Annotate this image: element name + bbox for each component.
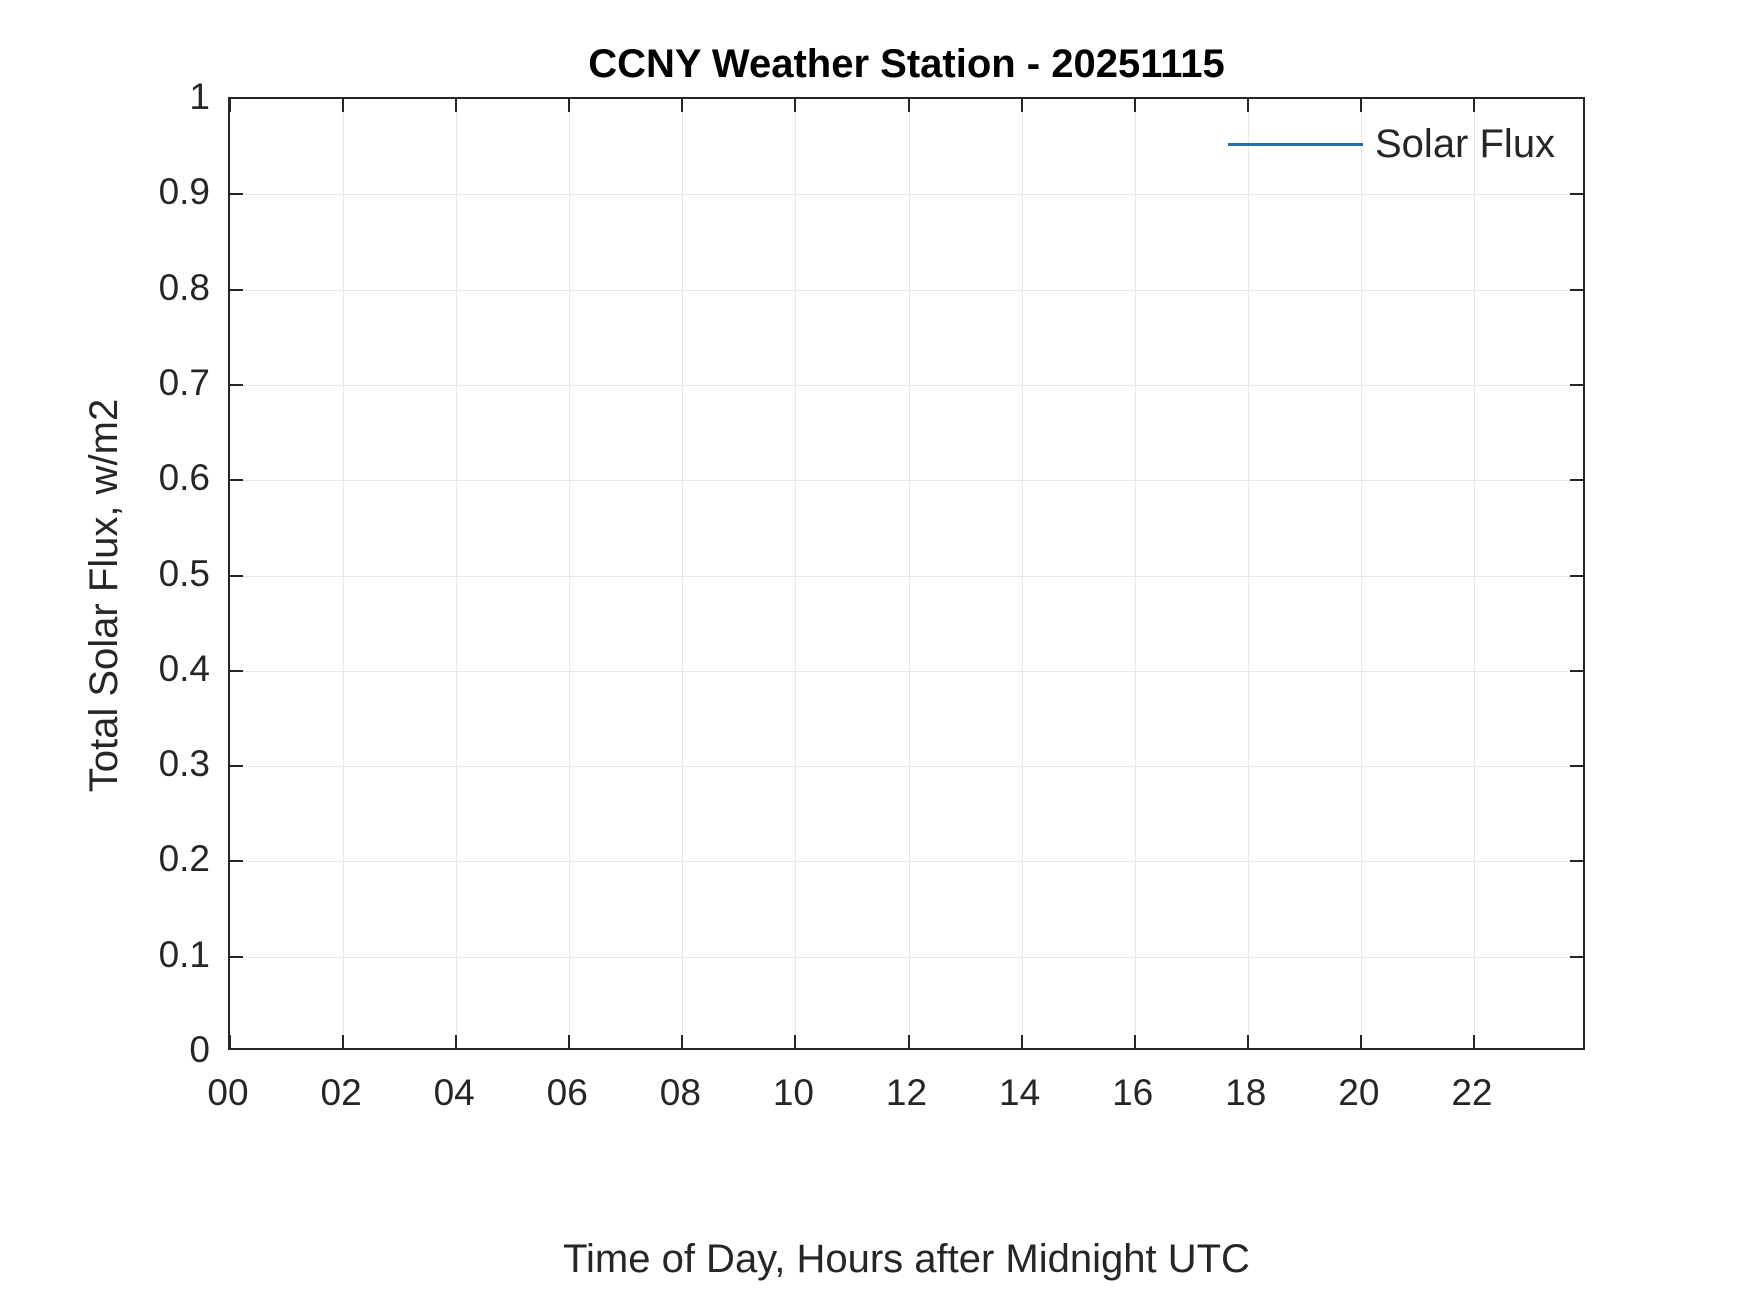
y-axis-tick-label: 0.5 [159, 553, 210, 595]
y-axis-tick-label: 0.8 [159, 267, 210, 309]
series-layer [230, 99, 1583, 1048]
legend[interactable]: Solar Flux [1228, 124, 1555, 164]
y-axis-tick-label: 0.7 [159, 362, 210, 404]
chart-title: CCNY Weather Station - 20251115 [228, 42, 1585, 87]
x-axis-tick-label: 00 [207, 1072, 248, 1114]
y-axis-tick-label: 0.2 [159, 838, 210, 880]
x-axis-tick-label: 18 [1225, 1072, 1266, 1114]
x-axis-tick-label: 22 [1451, 1072, 1492, 1114]
x-axis-tick-label: 12 [886, 1072, 927, 1114]
y-axis-tick-label: 0.6 [159, 457, 210, 499]
x-axis-tick-label: 10 [773, 1072, 814, 1114]
x-axis-tick-label: 14 [999, 1072, 1040, 1114]
x-axis-tick-label: 08 [660, 1072, 701, 1114]
y-axis-tick-label: 0.1 [159, 934, 210, 976]
y-axis-tick-label: 1 [189, 76, 210, 118]
x-axis-tick-label: 20 [1338, 1072, 1379, 1114]
plot-area[interactable] [228, 97, 1585, 1050]
legend-line-solar-flux [1228, 143, 1363, 146]
figure-canvas: CCNY Weather Station - 20251115 00.10.20… [0, 0, 1750, 1313]
x-axis-tick-label: 02 [321, 1072, 362, 1114]
x-axis-tick-label: 04 [434, 1072, 475, 1114]
x-axis-tick-label: 16 [1112, 1072, 1153, 1114]
y-axis-tick-label: 0.9 [159, 171, 210, 213]
y-axis-tick-label: 0.4 [159, 648, 210, 690]
y-axis-tick-label: 0 [189, 1029, 210, 1071]
legend-label-solar-flux: Solar Flux [1375, 124, 1555, 164]
y-axis-title: Total Solar Flux, w/m2 [82, 119, 127, 1072]
y-axis-tick-label: 0.3 [159, 743, 210, 785]
x-axis-tick-label: 06 [547, 1072, 588, 1114]
x-axis-title: Time of Day, Hours after Midnight UTC [228, 1237, 1585, 1282]
